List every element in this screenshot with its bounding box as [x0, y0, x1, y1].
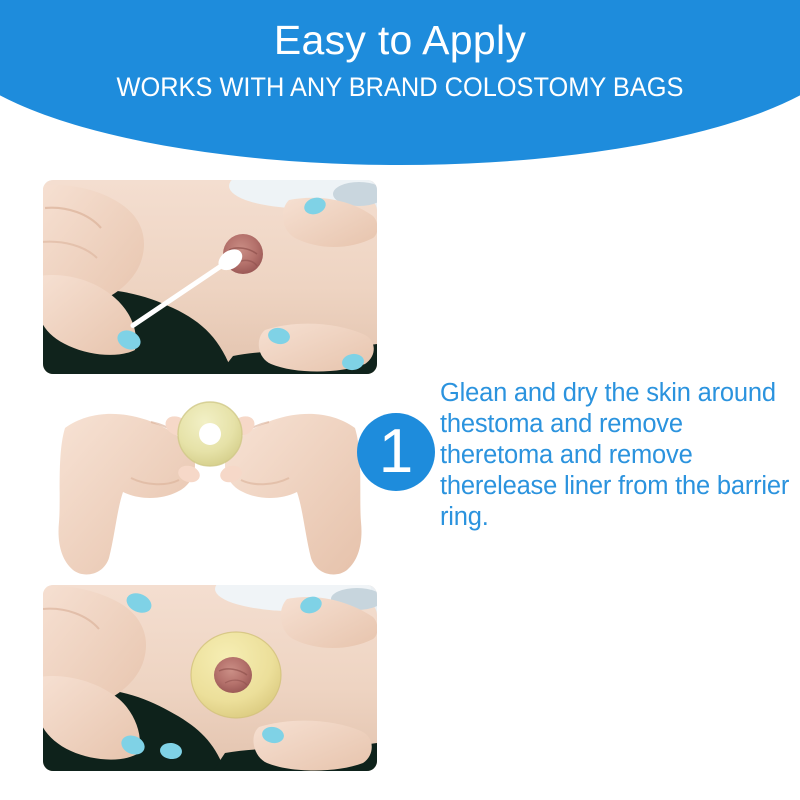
step-photo-1	[43, 180, 377, 374]
step-row-3: 3 Adjust the barrier ring so that itseal…	[0, 585, 800, 771]
step-row-1: 1 Glean and dry the skin around thestoma…	[0, 180, 800, 374]
step-photo-2	[43, 382, 377, 578]
banner-title: Easy to Apply	[0, 0, 800, 63]
infographic-page: Easy to Apply WORKS WITH ANY BRAND COLOS…	[0, 0, 800, 800]
step-photo-3	[43, 585, 377, 771]
step-badge-1: 1	[357, 413, 435, 491]
banner-text-group: Easy to Apply WORKS WITH ANY BRAND COLOS…	[0, 0, 800, 103]
banner-subtitle: WORKS WITH ANY BRAND COLOSTOMY BAGS	[24, 63, 776, 103]
header-banner: Easy to Apply WORKS WITH ANY BRAND COLOS…	[0, 0, 800, 170]
